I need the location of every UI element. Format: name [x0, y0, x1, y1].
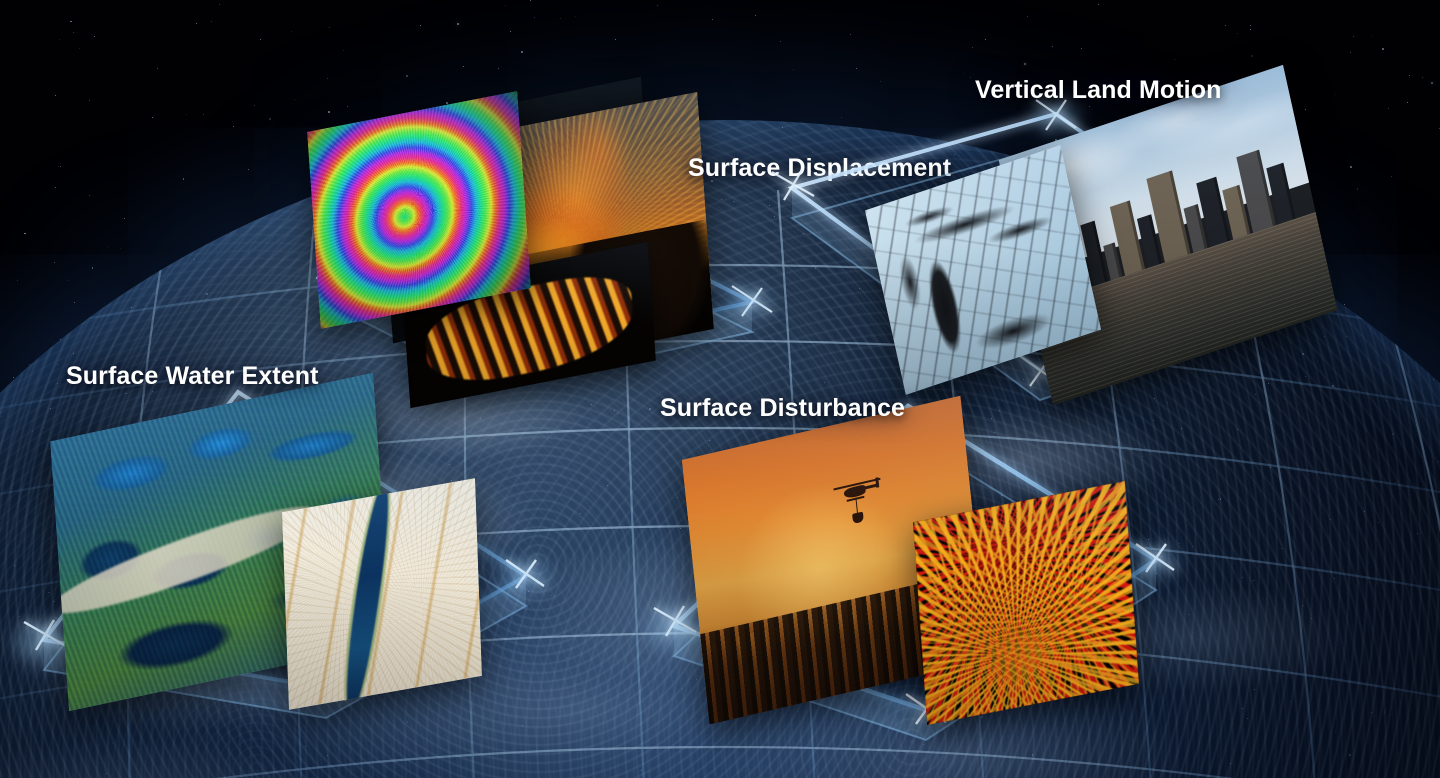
label-surface-disturbance: Surface Disturbance	[660, 394, 905, 423]
card-vertical-land-motion[interactable]: Vertical Land Motion	[770, 100, 1320, 430]
panel-insar-interferogram[interactable]	[307, 91, 531, 329]
card-surface-disturbance[interactable]: Surface Disturbance	[656, 420, 1176, 768]
label-surface-water-extent: Surface Water Extent	[66, 362, 319, 391]
card-surface-water-extent[interactable]: Surface Water Extent	[26, 400, 546, 750]
scene-root: Surface Displacement	[0, 0, 1440, 778]
label-vertical-land-motion: Vertical Land Motion	[975, 76, 1221, 105]
panel-burn-severity-map[interactable]	[913, 481, 1139, 725]
panel-water-extent-product[interactable]	[282, 478, 482, 710]
